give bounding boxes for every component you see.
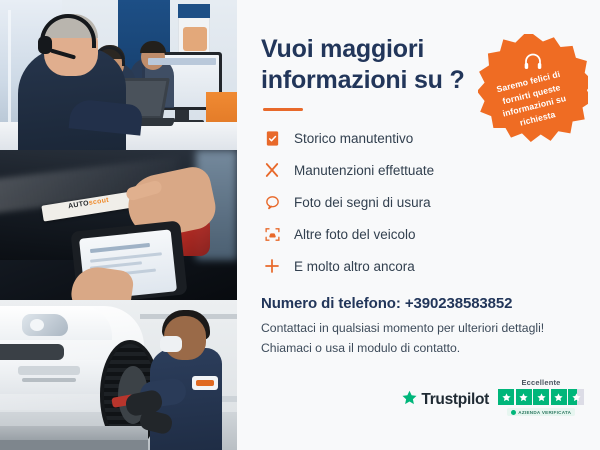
list-item: Foto dei segni di usura: [261, 191, 578, 213]
list-item-label: E molto altro ancora: [294, 259, 415, 274]
list-item-label: Foto dei segni di usura: [294, 195, 431, 210]
trustpilot-logo: Trustpilot: [401, 389, 489, 416]
title-divider: [263, 108, 303, 111]
photo-column: AUTOscout: [0, 0, 237, 450]
trustpilot-star-icon: [401, 389, 418, 411]
content-panel: Vuoi maggiori informazioni su ? Storico …: [237, 0, 600, 450]
tools-cross-icon: [261, 159, 283, 181]
feature-list: Storico manutentivo Manutenzioni effettu…: [261, 127, 578, 277]
clipboard-check-icon: [261, 127, 283, 149]
rating-label: Eccellente: [521, 378, 560, 387]
star-rating: [498, 389, 584, 405]
trustpilot-widget[interactable]: Trustpilot Eccellente AZIENDA VERIFICATA: [401, 378, 584, 416]
call-center-agent-photo: [0, 0, 237, 150]
star-icon-half: [568, 389, 584, 405]
verified-label: AZIENDA VERIFICATA: [518, 410, 571, 415]
list-item: Manutenzioni effettuate: [261, 159, 578, 181]
contact-line-1: Contattaci in qualsiasi momento per ulte…: [261, 319, 578, 338]
star-icon: [533, 389, 549, 405]
list-item: Altre foto del veicolo: [261, 223, 578, 245]
phone-number[interactable]: Numero di telefono: +390238583852: [261, 295, 578, 312]
car-frame-icon: [261, 223, 283, 245]
list-item-label: Manutenzioni effettuate: [294, 163, 434, 178]
mechanic-wheel-photo: [0, 300, 237, 450]
plus-icon: [261, 255, 283, 277]
verified-badge: AZIENDA VERIFICATA: [507, 408, 575, 416]
page-title: Vuoi maggiori informazioni su ?: [261, 34, 476, 95]
contact-line-2: Chiamaci o usa il modulo di contatto.: [261, 339, 578, 358]
callout-badge: Saremo felici di fornirti queste informa…: [478, 34, 588, 142]
list-item-label: Storico manutentivo: [294, 131, 413, 146]
promo-banner: AUTOscout Vuoi maggiori informazioni su …: [0, 0, 600, 450]
star-icon: [551, 389, 567, 405]
contact-block: Numero di telefono: +390238583852 Contat…: [261, 295, 578, 358]
tablet-inspection-photo: AUTOscout: [0, 150, 237, 300]
list-item: E molto altro ancora: [261, 255, 578, 277]
star-icon: [516, 389, 532, 405]
trustpilot-wordmark: Trustpilot: [421, 391, 489, 409]
list-item-label: Altre foto del veicolo: [294, 227, 416, 242]
verified-check-icon: [511, 410, 516, 415]
star-icon: [498, 389, 514, 405]
speech-bubble-icon: [261, 191, 283, 213]
trustpilot-rating-block: Eccellente AZIENDA VERIFICATA: [498, 378, 584, 416]
